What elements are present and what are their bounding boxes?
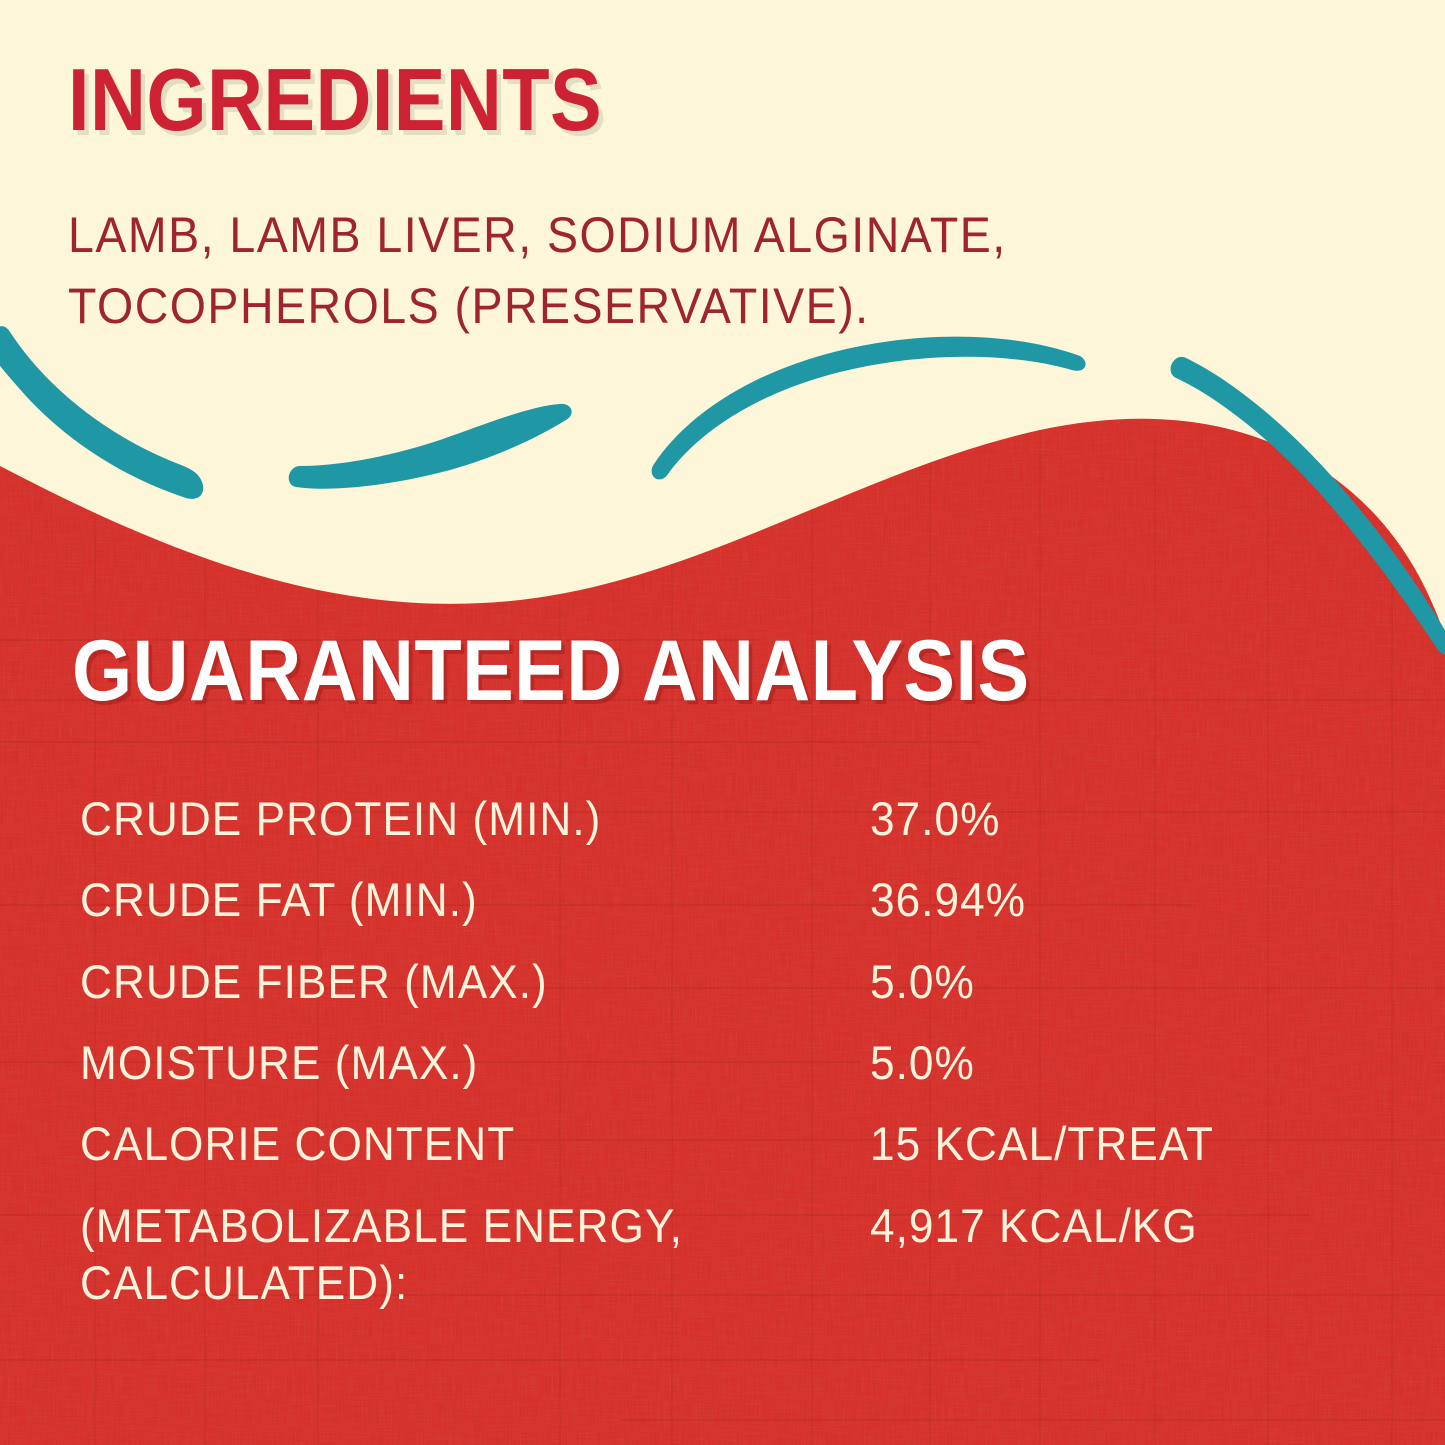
nutrient-label: MOISTURE (MAX.) [80, 1034, 823, 1091]
nutrient-label: CRUDE PROTEIN (MIN.) [80, 790, 823, 847]
nutrient-label: CRUDE FIBER (MAX.) [80, 953, 823, 1010]
ingredients-heading: INGREDIENTS [68, 58, 602, 142]
table-row: MOISTURE (MAX.) 5.0% [80, 1034, 1370, 1091]
table-row: CRUDE PROTEIN (MIN.) 37.0% [80, 790, 1370, 847]
nutrient-value: 5.0% [870, 1034, 1340, 1091]
nutrient-label: (METABOLIZABLE ENERGY, CALCULATED): [80, 1197, 823, 1312]
ingredients-list-text: LAMB, LAMB LIVER, SODIUM ALGINATE, TOCOP… [68, 200, 1184, 342]
nutrient-value: 36.94% [870, 871, 1340, 928]
nutrient-label: CRUDE FAT (MIN.) [80, 871, 823, 928]
table-row: CRUDE FAT (MIN.) 36.94% [80, 871, 1370, 928]
table-row: CALORIE CONTENT 15 KCAL/TREAT [80, 1115, 1370, 1172]
nutrient-value: 37.0% [870, 790, 1340, 847]
product-label-panel: INGREDIENTS LAMB, LAMB LIVER, SODIUM ALG… [0, 0, 1445, 1445]
nutrient-label: CALORIE CONTENT [80, 1115, 823, 1172]
nutrient-value: 15 KCAL/TREAT [870, 1115, 1340, 1172]
table-row: (METABOLIZABLE ENERGY, CALCULATED): 4,91… [80, 1197, 1370, 1312]
guaranteed-analysis-heading: GUARANTEED ANALYSIS [72, 628, 1030, 714]
nutrient-value: 4,917 KCAL/KG [870, 1197, 1340, 1254]
nutrient-value: 5.0% [870, 953, 1340, 1010]
table-row: CRUDE FIBER (MAX.) 5.0% [80, 953, 1370, 1010]
guaranteed-analysis-table: CRUDE PROTEIN (MIN.) 37.0% CRUDE FAT (MI… [80, 790, 1370, 1335]
